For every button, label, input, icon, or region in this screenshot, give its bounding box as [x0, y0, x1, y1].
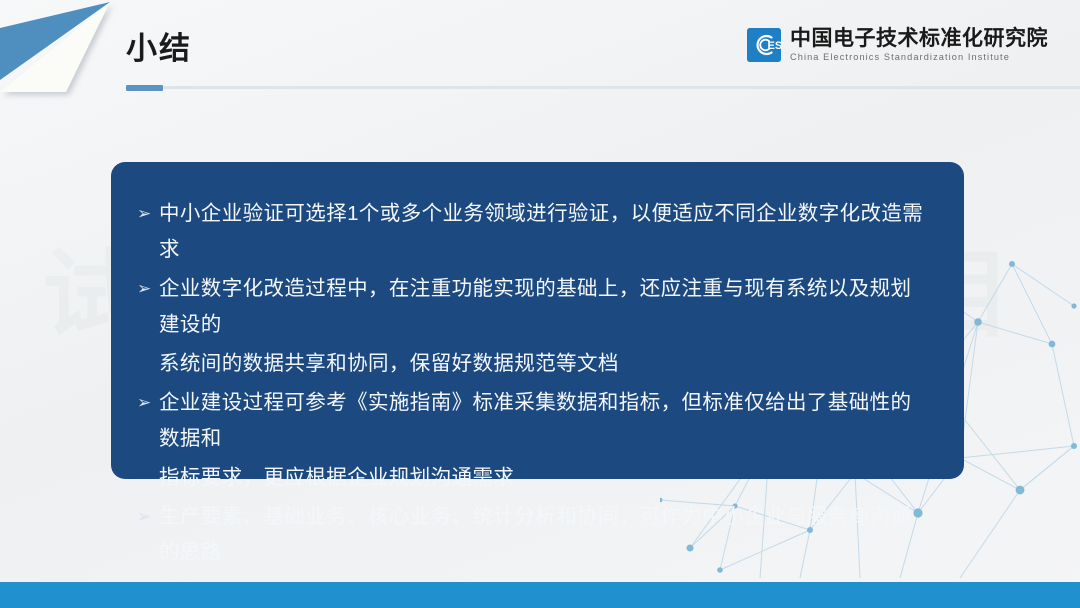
- bullet-item: ➢指标要求，更应根据企业规划沟通需求: [133, 460, 930, 496]
- bullet-item: ➢中小企业验证可选择1个或多个业务领域进行验证，以便适应不同企业数字化改造需求: [133, 196, 930, 268]
- bullet-item: ➢企业建设过程可参考《实施指南》标准采集数据和指标，但标准仅给出了基础性的数据和: [133, 385, 930, 457]
- logo-name-en: China Electronics Standardization Instit…: [790, 52, 1048, 64]
- svg-text:ESI: ESI: [768, 40, 782, 52]
- bullet-text: 指标要求，更应根据企业规划沟通需求: [159, 460, 930, 496]
- summary-panel: ➢中小企业验证可选择1个或多个业务领域进行验证，以便适应不同企业数字化改造需求➢…: [111, 162, 964, 479]
- bullet-item: ➢企业数字化改造过程中，在注重功能实现的基础上，还应注重与现有系统以及规划建设的: [133, 271, 930, 343]
- bullet-text: 企业数字化改造过程中，在注重功能实现的基础上，还应注重与现有系统以及规划建设的: [159, 271, 930, 343]
- title-accent-bar: [126, 85, 163, 91]
- title-divider: [126, 86, 1080, 89]
- bullet-item: ➢系统间的数据共享和协同，保留好数据规范等文档: [133, 346, 930, 382]
- institute-logo: ESI 中国电子技术标准化研究院 China Electronics Stand…: [747, 27, 1048, 64]
- logo-name-cn: 中国电子技术标准化研究院: [790, 27, 1048, 50]
- summary-bullet-list: ➢中小企业验证可选择1个或多个业务领域进行验证，以便适应不同企业数字化改造需求➢…: [133, 196, 930, 608]
- bullet-text: 企业建设过程可参考《实施指南》标准采集数据和指标，但标准仅给出了基础性的数据和: [159, 385, 930, 457]
- logo-text-block: 中国电子技术标准化研究院 China Electronics Standardi…: [790, 27, 1048, 64]
- corner-flag-decoration: [0, 0, 125, 105]
- bullet-arrow-icon: ➢: [133, 271, 159, 307]
- esi-logo-icon: ESI: [747, 28, 781, 62]
- bullet-arrow-icon: ➢: [133, 499, 159, 535]
- bullet-text: 生产要素、基础业务、核心业务、统计分析和协同，可作为中小企业与服务商沟通的思路: [159, 499, 930, 571]
- bullet-item: ➢生产要素、基础业务、核心业务、统计分析和协同，可作为中小企业与服务商沟通的思路: [133, 499, 930, 571]
- bottom-accent-bar: [0, 582, 1080, 608]
- bullet-text: 系统间的数据共享和协同，保留好数据规范等文档: [159, 346, 930, 382]
- bullet-arrow-icon: ➢: [133, 196, 159, 232]
- page-title: 小结: [126, 30, 192, 69]
- bullet-arrow-icon: ➢: [133, 385, 159, 421]
- bullet-text: 中小企业验证可选择1个或多个业务领域进行验证，以便适应不同企业数字化改造需求: [159, 196, 930, 268]
- slide-canvas: 试 点 示 范 项 目: [0, 0, 1080, 608]
